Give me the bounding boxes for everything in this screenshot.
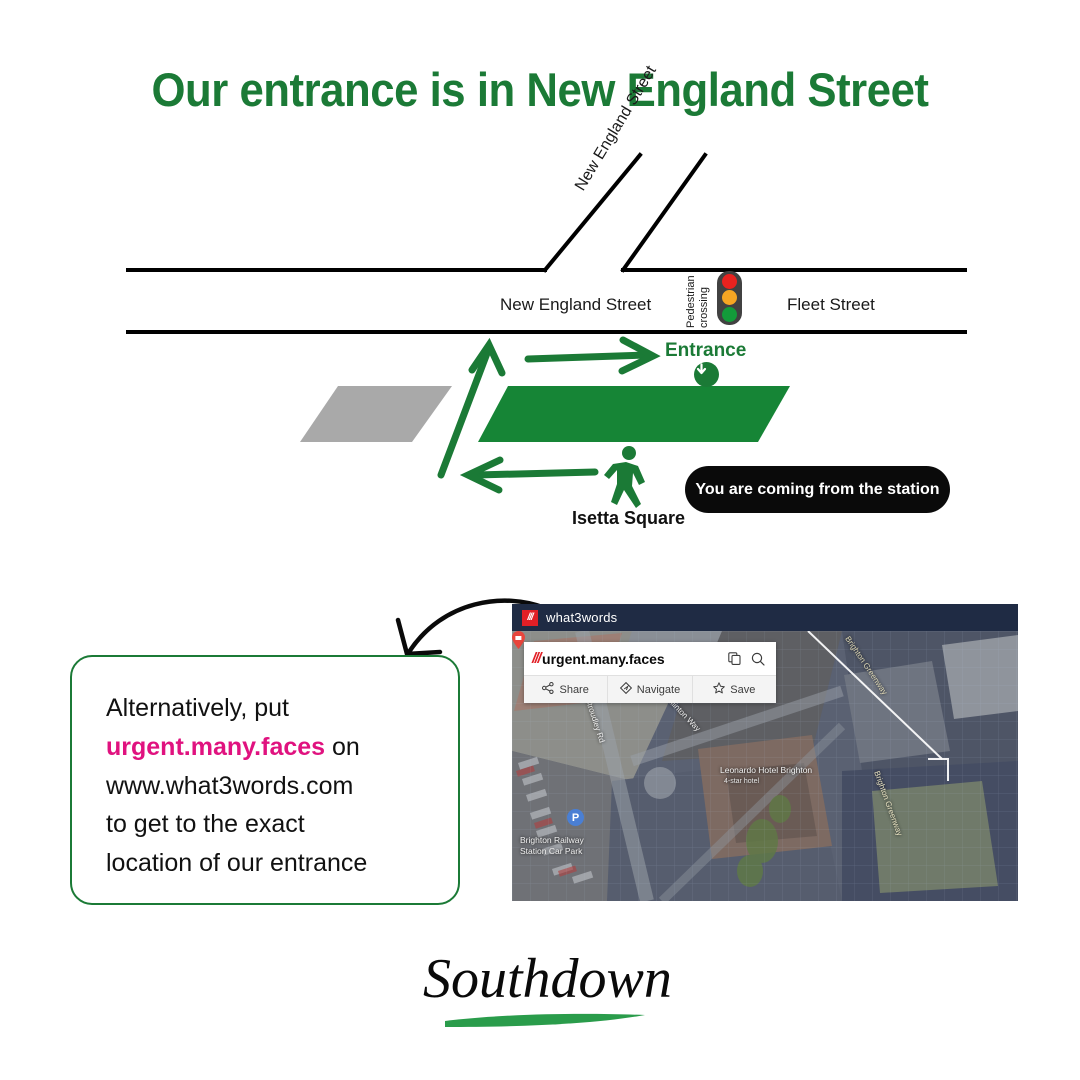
callout-text: Alternatively, put urgent.many.faces on … [106, 689, 424, 883]
callout-line-3: www.what3words.com [106, 772, 353, 800]
route-arrow-up-shaft [441, 348, 489, 475]
street-label-fleet-street: Fleet Street [787, 295, 875, 315]
traffic-light-icon [717, 271, 742, 325]
what3words-brand-name: what3words [546, 610, 617, 625]
callout-line-5: location of our entrance [106, 849, 367, 877]
pedestrian-crossing-line2: crossing [699, 268, 711, 328]
southdown-logo-underline [445, 1014, 645, 1027]
what3words-callout-box: Alternatively, put urgent.many.faces on … [70, 655, 460, 905]
street-label-new-england: New England Street [500, 295, 651, 315]
traffic-light-green [722, 307, 737, 322]
map-label-leonardo-hotel: Leonardo Hotel Brighton [720, 765, 812, 775]
navigate-button[interactable]: Navigate [608, 676, 692, 703]
what3words-address-card: /// urgent.many.faces [524, 642, 776, 703]
route-arrow-right-shaft [528, 355, 648, 359]
star-icon [713, 682, 725, 697]
pedestrian-crossing-line1: Pedestrian [686, 268, 698, 328]
diagonal-road-right-edge [623, 155, 705, 270]
navigate-icon [620, 682, 632, 697]
callout-line-1: Alternatively, put [106, 694, 289, 722]
route-arrow-left-shaft [476, 472, 595, 475]
station-origin-badge-text: You are coming from the station [695, 481, 939, 499]
page-title: Our entrance is in New England Street [38, 62, 1042, 117]
station-origin-badge: You are coming from the station [685, 466, 950, 513]
share-icon [542, 682, 554, 697]
pedestrian-icon [604, 446, 645, 508]
callout-line-4: to get to the exact [106, 810, 305, 838]
search-icon[interactable] [748, 649, 768, 669]
southdown-logo: Southdown [415, 935, 675, 1040]
what3words-address-row[interactable]: /// urgent.many.faces [524, 642, 776, 675]
grey-building-block [300, 386, 452, 442]
isetta-square-label: Isetta Square [572, 508, 685, 529]
green-building-block [478, 386, 790, 442]
pedestrian-crossing-label: Pedestrian crossing [686, 268, 710, 328]
what3words-logo-icon: /// [522, 610, 538, 626]
callout-line-2-tail: on [332, 733, 360, 761]
navigate-button-label: Navigate [637, 684, 680, 696]
entrance-down-arrow-icon [694, 362, 719, 387]
traffic-light-amber [722, 290, 737, 305]
entrance-label: Entrance [665, 340, 746, 362]
what3words-address-prefix: /// [532, 650, 540, 667]
what3words-action-bar: Share Navigate Save [524, 675, 776, 703]
map-label-car-park-line1: Brighton Railway [520, 835, 584, 845]
share-button-label: Share [559, 684, 588, 696]
directions-diagram: New England Street Fleet Street New Engl… [0, 130, 1080, 550]
map-label-car-park-line2: Station Car Park [520, 846, 582, 856]
what3words-logo-slashes: /// [527, 613, 532, 623]
copy-icon[interactable] [724, 649, 744, 669]
traffic-light-red [722, 274, 737, 289]
map-parking-marker-icon[interactable]: P [567, 809, 584, 826]
map-label-hotel-rating: 4-star hotel [724, 778, 759, 785]
what3words-address-value: urgent.many.faces [542, 651, 720, 667]
what3words-map-widget[interactable]: /// what3words [512, 604, 1018, 901]
save-button[interactable]: Save [693, 676, 776, 703]
what3words-header-bar: /// what3words [512, 604, 1018, 631]
southdown-logo-text: Southdown [423, 948, 672, 1010]
callout-w3w-address: urgent.many.faces [106, 733, 325, 761]
save-button-label: Save [730, 684, 755, 696]
share-button[interactable]: Share [524, 676, 608, 703]
